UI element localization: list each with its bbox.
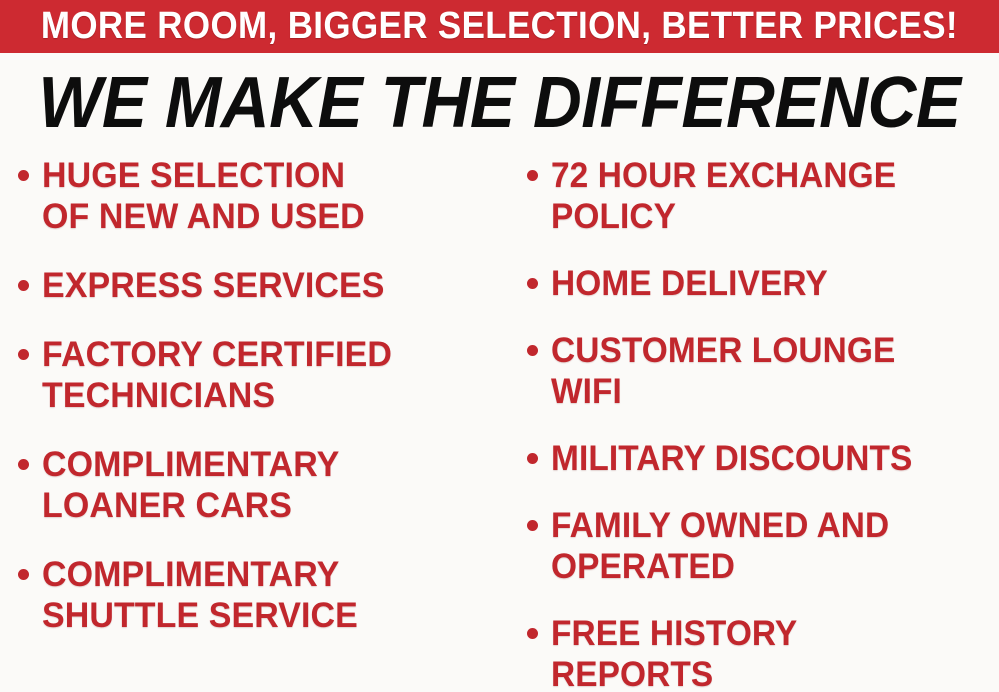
promo-poster: MORE ROOM, BIGGER SELECTION, BETTER PRIC… (0, 0, 999, 692)
list-item-label: HUGE SELECTION OF NEW AND USED (42, 155, 365, 237)
list-item: FACTORY CERTIFIED TECHNICIANS (18, 334, 501, 416)
list-item-label: FREE HISTORY REPORTS (551, 613, 797, 692)
bullet-dot-icon (527, 170, 538, 181)
bullet-dot-icon (18, 170, 29, 181)
list-item-label: COMPLIMENTARY SHUTTLE SERVICE (42, 554, 358, 636)
list-item-label: EXPRESS SERVICES (42, 265, 384, 306)
list-item: HOME DELIVERY (527, 263, 999, 304)
bullet-dot-icon (527, 278, 538, 289)
headline-container: WE MAKE THE DIFFERENCE (0, 61, 999, 145)
benefits-column-right: 72 HOUR EXCHANGE POLICY HOME DELIVERY CU… (505, 155, 999, 692)
benefits-columns: HUGE SELECTION OF NEW AND USED EXPRESS S… (0, 155, 999, 692)
benefits-column-left: HUGE SELECTION OF NEW AND USED EXPRESS S… (0, 155, 505, 636)
bullet-dot-icon (18, 459, 29, 470)
list-item: CUSTOMER LOUNGE WIFI (527, 330, 999, 412)
list-item-label: FACTORY CERTIFIED TECHNICIANS (42, 334, 392, 416)
list-item: MILITARY DISCOUNTS (527, 438, 999, 479)
bullet-dot-icon (18, 280, 29, 291)
list-item-label: FAMILY OWNED AND OPERATED (551, 505, 889, 587)
list-item: 72 HOUR EXCHANGE POLICY (527, 155, 999, 237)
bullet-dot-icon (18, 569, 29, 580)
list-item: EXPRESS SERVICES (18, 265, 501, 306)
list-item: FAMILY OWNED AND OPERATED (527, 505, 999, 587)
list-item-label: MILITARY DISCOUNTS (551, 438, 912, 479)
bullet-dot-icon (18, 349, 29, 360)
bullet-dot-icon (527, 453, 538, 464)
list-item-label: 72 HOUR EXCHANGE POLICY (551, 155, 896, 237)
list-item: COMPLIMENTARY SHUTTLE SERVICE (18, 554, 501, 636)
list-item: HUGE SELECTION OF NEW AND USED (18, 155, 501, 237)
list-item-label: HOME DELIVERY (551, 263, 828, 304)
promo-banner-text: MORE ROOM, BIGGER SELECTION, BETTER PRIC… (41, 7, 958, 47)
bullet-dot-icon (527, 345, 538, 356)
list-item: FREE HISTORY REPORTS (527, 613, 999, 692)
list-item: COMPLIMENTARY LOANER CARS (18, 444, 501, 526)
page-title: WE MAKE THE DIFFERENCE (38, 67, 960, 139)
list-item-label: COMPLIMENTARY LOANER CARS (42, 444, 339, 526)
bullet-dot-icon (527, 520, 538, 531)
list-item-label: CUSTOMER LOUNGE WIFI (551, 330, 895, 412)
bullet-dot-icon (527, 628, 538, 639)
promo-banner: MORE ROOM, BIGGER SELECTION, BETTER PRIC… (0, 0, 999, 53)
